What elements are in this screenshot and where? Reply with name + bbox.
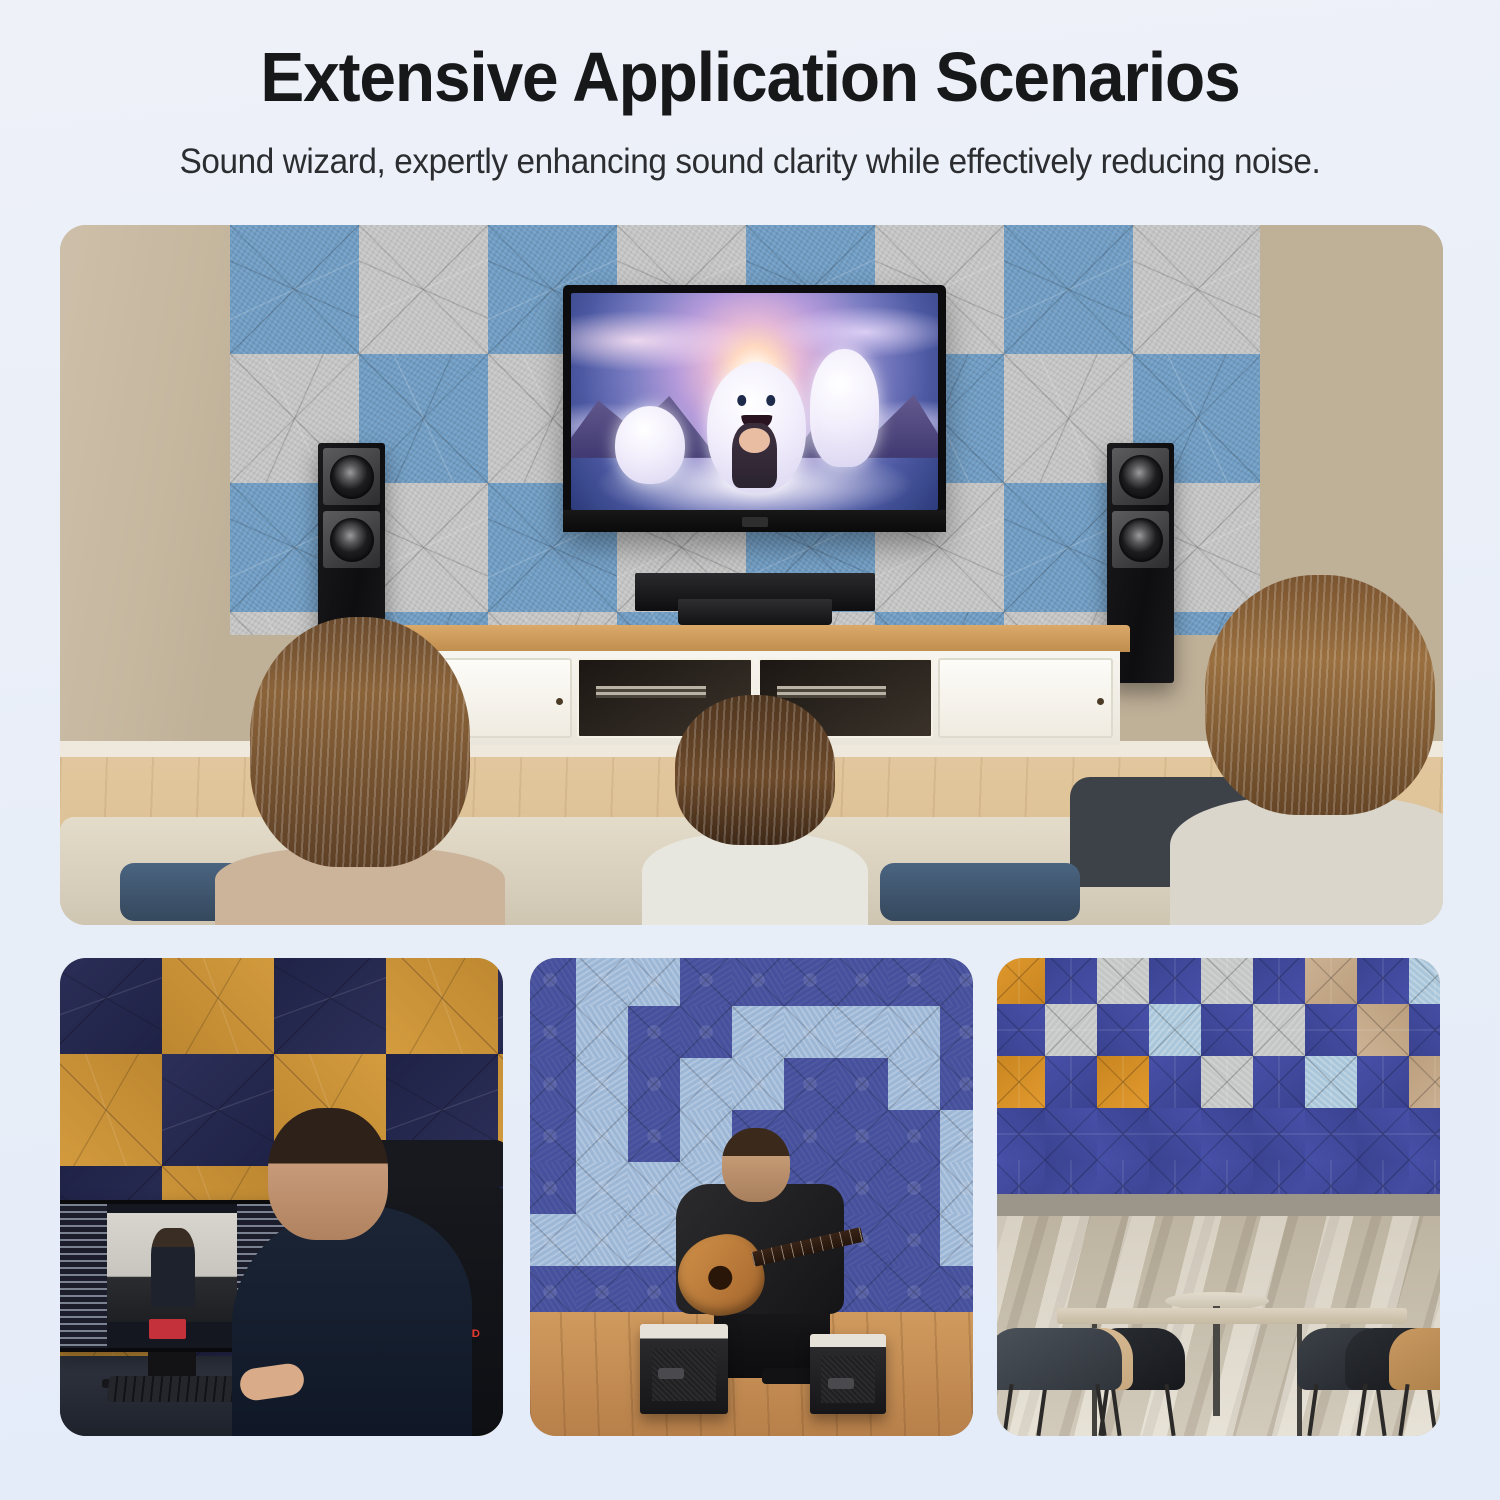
acoustic-panel-tile	[1097, 1056, 1149, 1108]
acoustic-panel-tile	[784, 1006, 836, 1058]
acoustic-panel-tile	[1045, 958, 1097, 1004]
acoustic-panel-tile	[576, 1214, 628, 1266]
acoustic-panel-tile	[1201, 1108, 1253, 1160]
acoustic-panel-tile	[940, 1006, 973, 1058]
acoustic-panel-tile	[888, 1162, 940, 1214]
acoustic-panel-tile	[1357, 958, 1409, 1004]
yeti-right	[810, 349, 880, 466]
acoustic-panel-tile	[1409, 1108, 1440, 1160]
speaker-driver-bottom	[323, 511, 380, 568]
acoustic-panel-tile	[1097, 1108, 1149, 1160]
acoustic-panel-tile	[1305, 1108, 1357, 1160]
acoustic-panel-tile	[1409, 1056, 1440, 1108]
speaker-driver-top	[323, 448, 380, 505]
acoustic-panel-tile	[1045, 1004, 1097, 1056]
page-title: Extensive Application Scenarios	[45, 40, 1455, 116]
acoustic-panel-tile	[1133, 225, 1260, 354]
acoustic-panel-tile	[680, 1006, 732, 1058]
person-head	[250, 617, 470, 867]
left-amplifier	[640, 1324, 728, 1414]
acoustic-panel-tile	[60, 958, 162, 1054]
chair-leg	[1002, 1384, 1013, 1436]
acoustic-panel-tile	[230, 225, 359, 354]
chair-leg	[1164, 1384, 1175, 1436]
hero-image-card	[60, 225, 1443, 925]
person-torso	[1170, 797, 1443, 925]
guitar-soundhole	[706, 1263, 735, 1292]
acoustic-panel-tile	[997, 1056, 1045, 1108]
tv-bottom-bezel	[563, 510, 946, 532]
acoustic-panel-tile	[732, 1006, 784, 1058]
tv-girl-character	[732, 423, 776, 488]
acoustic-panel-tile	[162, 958, 274, 1054]
gaming-scene-card: VID	[60, 958, 503, 1436]
acoustic-panel-tile	[628, 958, 680, 1006]
acoustic-panel-tile	[1097, 958, 1149, 1004]
acoustic-panel-tile	[888, 1214, 940, 1266]
acoustic-panel-tile	[576, 1110, 628, 1162]
acoustic-panel-tile	[1201, 1004, 1253, 1056]
acoustic-panel-tile	[530, 1110, 576, 1162]
person-torso	[642, 833, 868, 925]
hair-texture	[1205, 575, 1435, 815]
right-amplifier	[810, 1334, 886, 1414]
acoustic-panel-tile	[997, 1108, 1045, 1160]
acoustic-panel-tile	[940, 1162, 973, 1214]
living-room-scene	[60, 225, 1443, 925]
acoustic-panel-tile	[576, 1266, 628, 1318]
acoustic-panel-tile	[530, 1006, 576, 1058]
acoustic-panel-tile	[1357, 1004, 1409, 1056]
acoustic-panel-tile	[576, 1162, 628, 1214]
tv-screen	[571, 293, 938, 510]
acoustic-panel-tile	[836, 1006, 888, 1058]
video-preview	[107, 1213, 237, 1322]
acoustic-panel-tile	[576, 958, 628, 1006]
acoustic-panel-tile	[1357, 1056, 1409, 1108]
acoustic-panel-tile	[940, 1214, 973, 1266]
editor-panel-left	[60, 1204, 107, 1348]
acoustic-panel-tile	[732, 1058, 784, 1110]
office-chair	[997, 1318, 1122, 1436]
acoustic-panel-tile	[1201, 958, 1253, 1004]
acoustic-panel-tile	[1409, 958, 1440, 1004]
acoustic-panel-tile	[836, 1058, 888, 1110]
acoustic-panel-tile	[359, 225, 488, 354]
acoustic-panel-tile	[1045, 1056, 1097, 1108]
acoustic-panel-tile	[530, 1214, 576, 1266]
person-legs-right	[880, 863, 1080, 921]
acoustic-panel-tile	[1357, 1108, 1409, 1160]
person-boy-center	[640, 675, 870, 925]
acoustic-panel-tile	[997, 958, 1045, 1004]
yeti-eye-left	[737, 395, 746, 407]
gamer-torso	[232, 1206, 472, 1436]
wall-mounted-tv	[563, 285, 946, 532]
person-head	[675, 695, 835, 845]
acoustic-panel-tile	[60, 1054, 162, 1166]
acoustic-panel-tile	[274, 958, 386, 1054]
acoustic-panel-tile	[1201, 1056, 1253, 1108]
wall-base-trim	[997, 1194, 1440, 1216]
acoustic-panel-tile	[1149, 1108, 1201, 1160]
music-scene-card	[530, 958, 973, 1436]
acoustic-panel-tile	[576, 1006, 628, 1058]
soundbar-front	[678, 599, 832, 625]
chair-leg	[1307, 1384, 1318, 1436]
cabinet-knob	[556, 698, 563, 705]
acoustic-panel-tile	[680, 1058, 732, 1110]
hair-texture	[250, 617, 470, 867]
cabinet-knob	[1097, 698, 1104, 705]
guitar-frets	[751, 1227, 864, 1267]
acoustic-panel-tile	[784, 1058, 836, 1110]
acoustic-panel-tile	[940, 1266, 973, 1318]
acoustic-panel-tile	[530, 1162, 576, 1214]
acoustic-panel-tile	[498, 958, 503, 1054]
page-subtitle: Sound wizard, expertly enhancing sound c…	[38, 142, 1463, 182]
yeti-left	[615, 406, 685, 484]
acoustic-panel-tile	[997, 1004, 1045, 1056]
person-gamer	[232, 1106, 472, 1436]
acoustic-panel-tile	[940, 1058, 973, 1110]
acoustic-panel-tile	[1409, 1004, 1440, 1056]
amp-logo	[658, 1368, 684, 1379]
soundbar	[635, 573, 875, 625]
chair-seat	[997, 1328, 1122, 1390]
acoustic-panel-tile	[530, 958, 576, 1006]
chair-leg	[1356, 1384, 1367, 1436]
acoustic-panel-tile	[888, 1110, 940, 1162]
acoustic-panel-tile	[1149, 1004, 1201, 1056]
office-scene-card	[997, 958, 1440, 1436]
page-header: Extensive Application Scenarios Sound wi…	[0, 0, 1500, 182]
acoustic-panel-tile	[836, 958, 888, 1006]
acoustic-panel-tile	[888, 1266, 940, 1318]
acoustic-panel-tile	[732, 958, 784, 1006]
acoustic-panel-tile	[888, 958, 940, 1006]
acoustic-panel-tile	[628, 1058, 680, 1110]
person-head	[1205, 575, 1435, 815]
speaker-driver-top	[1112, 448, 1169, 505]
amp-logo	[828, 1378, 854, 1389]
guitar-neck	[751, 1227, 864, 1267]
chair-leg	[1096, 1384, 1107, 1436]
chair-leg	[1399, 1384, 1410, 1436]
acoustic-panel-tile	[1004, 225, 1133, 354]
acoustic-panel-tile	[530, 1266, 576, 1318]
office-chair	[1389, 1318, 1440, 1436]
acoustic-panel-tile	[1097, 1004, 1149, 1056]
acoustic-panel-tile	[1149, 958, 1201, 1004]
acoustic-panel-tile	[1045, 1108, 1097, 1160]
acoustic-panel-tile	[1253, 958, 1305, 1004]
acoustic-panel-tile	[940, 1110, 973, 1162]
person-woman-left	[210, 595, 510, 925]
acoustic-panel-tile	[530, 1058, 576, 1110]
acoustic-panel-tile	[1253, 1056, 1305, 1108]
acoustic-panel-tile	[784, 958, 836, 1006]
acoustic-panel-tile	[1305, 958, 1357, 1004]
gamer-head	[268, 1108, 388, 1240]
acoustic-panel-tile	[1149, 1056, 1201, 1108]
person-woman-right	[1165, 545, 1443, 925]
chair-seat	[1389, 1328, 1440, 1390]
speaker-driver-bottom	[1112, 511, 1169, 568]
hair-texture	[675, 695, 835, 845]
acoustic-panel-tile	[888, 1006, 940, 1058]
yeti-eye-right	[766, 395, 775, 407]
video-chair-accent	[149, 1319, 186, 1339]
acoustic-panel-tile	[1305, 1004, 1357, 1056]
acoustic-panel-tile	[680, 958, 732, 1006]
cabinet-door-right	[938, 658, 1113, 738]
acoustic-panel-tile	[1253, 1004, 1305, 1056]
acoustic-panel-tile	[386, 958, 498, 1054]
acoustic-panel-tile	[940, 958, 973, 1006]
acoustic-panel-tile	[1253, 1108, 1305, 1160]
acoustic-panel-tile	[1305, 1056, 1357, 1108]
acoustic-panel-tile	[576, 1058, 628, 1110]
acoustic-panel-tile	[628, 1006, 680, 1058]
acoustic-panel-tile	[888, 1058, 940, 1110]
guitarist-head	[722, 1128, 790, 1202]
tv-logo	[742, 517, 768, 527]
